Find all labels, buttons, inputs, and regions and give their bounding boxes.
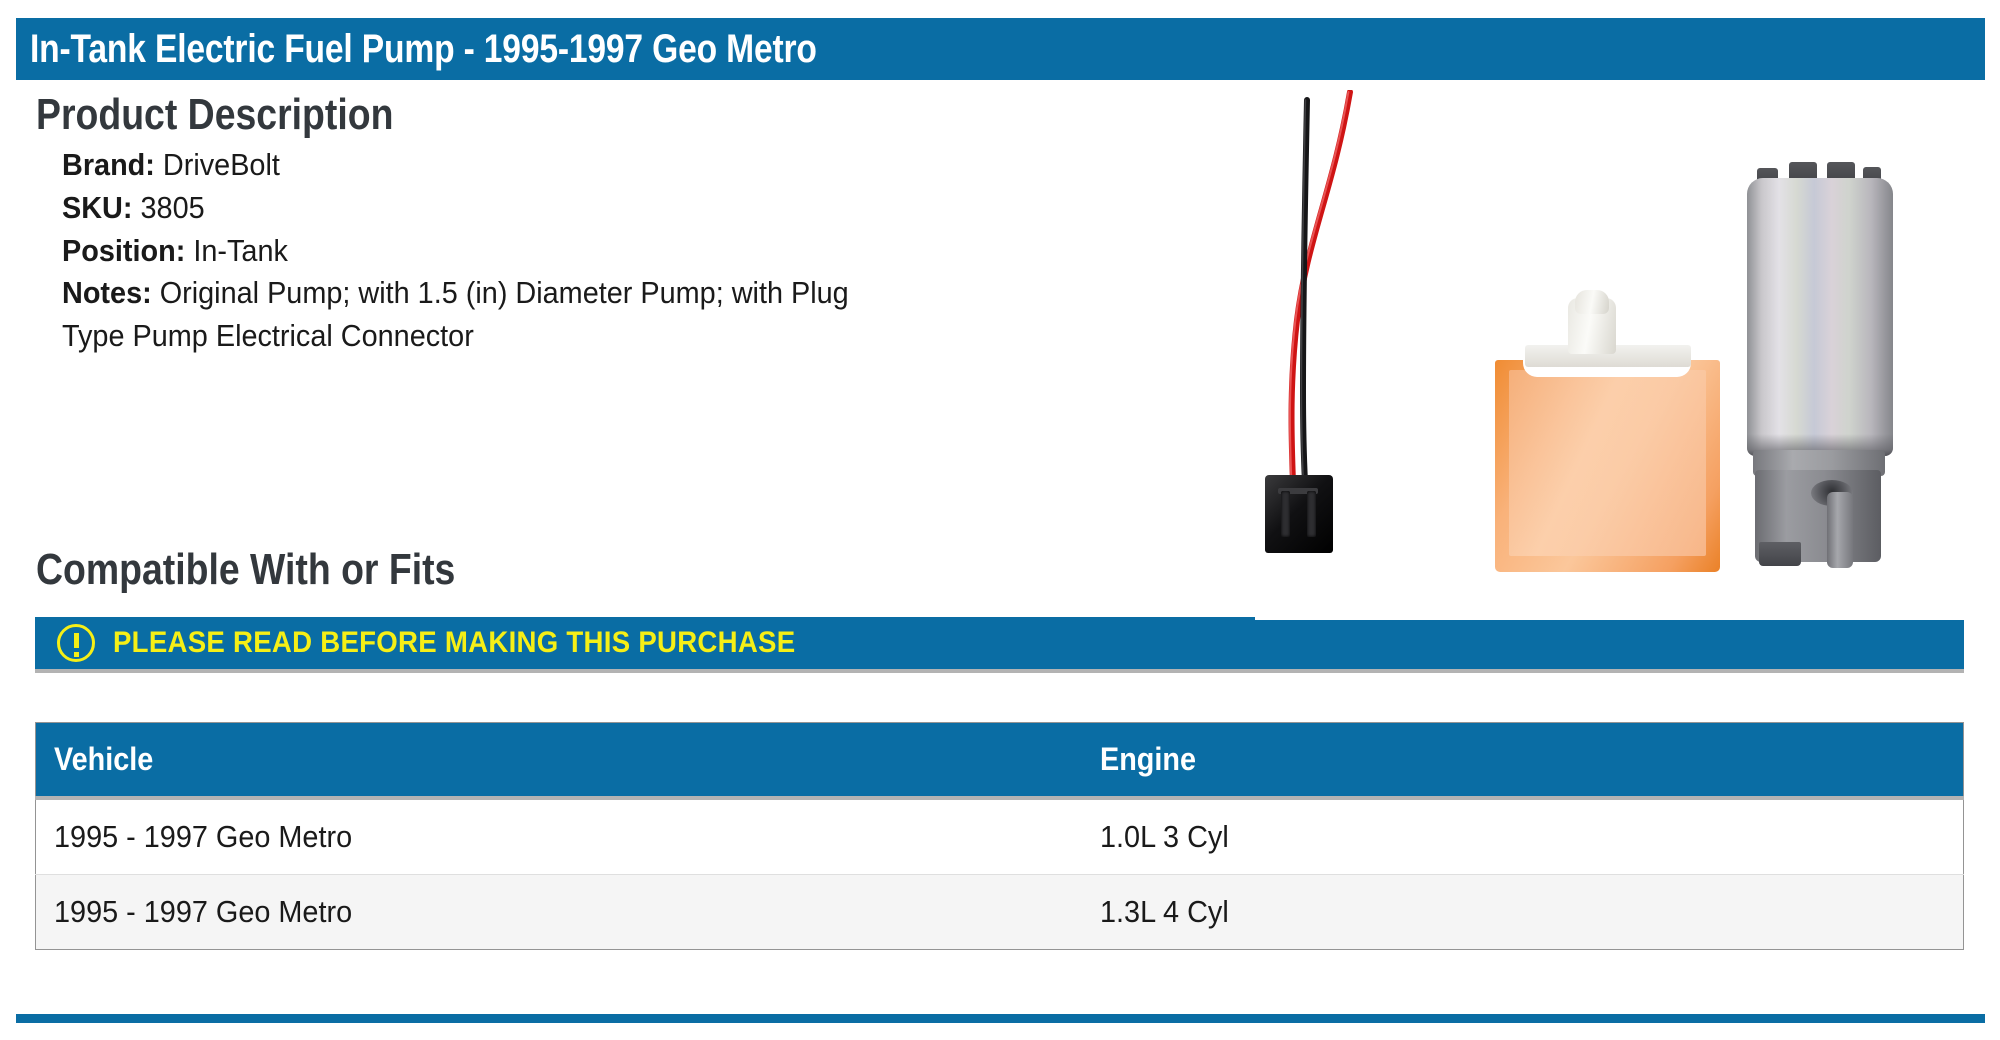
cell-engine-text: 1.3L 4 Cyl	[1100, 894, 1229, 930]
wire-red-icon	[1255, 90, 1455, 490]
spec-item-brand: Brand: DriveBolt	[62, 144, 918, 187]
spec-label-sku: SKU:	[62, 190, 132, 225]
column-header-vehicle-label: Vehicle	[54, 741, 153, 778]
fitment-table-header-row: Vehicle Engine	[36, 723, 1964, 799]
cell-engine: 1.0L 3 Cyl	[1082, 798, 1964, 875]
electrical-connector-body	[1265, 475, 1333, 553]
cell-vehicle: 1995 - 1997 Geo Metro	[36, 875, 1082, 950]
fuel-pump-cylinder	[1635, 90, 1935, 570]
compatibility-heading: Compatible With or Fits	[36, 545, 455, 595]
spec-value-brand: DriveBolt	[163, 147, 280, 182]
fitment-table-head: Vehicle Engine	[36, 723, 1964, 799]
product-description-heading: Product Description	[36, 92, 1039, 138]
purchase-warning-banner: PLEASE READ BEFORE MAKING THIS PURCHASE	[35, 617, 1964, 673]
spec-label-brand: Brand:	[62, 147, 155, 182]
table-row: 1995 - 1997 Geo Metro 1.3L 4 Cyl	[36, 875, 1964, 950]
column-header-engine: Engine	[1082, 723, 1964, 799]
filter-sock-plastic-cap	[1575, 290, 1609, 314]
cell-vehicle-text: 1995 - 1997 Geo Metro	[54, 819, 352, 855]
spec-item-sku: SKU: 3805	[62, 187, 918, 230]
page-title: In-Tank Electric Fuel Pump - 1995-1997 G…	[30, 27, 817, 72]
pump-outlet-tube	[1827, 492, 1853, 568]
spec-item-position: Position: In-Tank	[62, 230, 918, 273]
fitment-table: Vehicle Engine 1995 - 1997 Geo Metro 1.0…	[35, 722, 1964, 950]
spec-label-notes: Notes:	[62, 275, 152, 310]
connector-slot	[1281, 491, 1290, 537]
wiring-harness-connector	[1255, 90, 1455, 560]
spec-value-position: In-Tank	[193, 233, 288, 268]
product-photo	[1255, 90, 1985, 620]
cell-engine: 1.3L 4 Cyl	[1082, 875, 1964, 950]
spec-label-position: Position:	[62, 233, 185, 268]
cell-vehicle-text: 1995 - 1997 Geo Metro	[54, 894, 352, 930]
table-row: 1995 - 1997 Geo Metro 1.0L 3 Cyl	[36, 798, 1964, 875]
product-spec-list: Brand: DriveBolt SKU: 3805 Position: In-…	[36, 144, 1216, 358]
spec-value-sku: 3805	[140, 190, 204, 225]
pump-foot-bracket	[1759, 542, 1801, 566]
footer-bar	[16, 1014, 1985, 1023]
connector-slot	[1307, 491, 1316, 537]
fitment-table-body: 1995 - 1997 Geo Metro 1.0L 3 Cyl 1995 - …	[36, 798, 1964, 950]
exclamation-circle-icon	[57, 624, 95, 662]
cell-vehicle: 1995 - 1997 Geo Metro	[36, 798, 1082, 875]
purchase-warning-text: PLEASE READ BEFORE MAKING THIS PURCHASE	[113, 626, 795, 660]
column-header-engine-label: Engine	[1100, 741, 1196, 778]
cell-engine-text: 1.0L 3 Cyl	[1100, 819, 1229, 855]
product-description-section: Product Description Brand: DriveBolt SKU…	[36, 92, 1216, 358]
column-header-vehicle: Vehicle	[36, 723, 1082, 799]
spec-value-notes: Original Pump; with 1.5 (in) Diameter Pu…	[62, 275, 849, 353]
product-detail-page: In-Tank Electric Fuel Pump - 1995-1997 G…	[0, 0, 2000, 1040]
pump-metal-body	[1747, 178, 1893, 456]
page-title-bar: In-Tank Electric Fuel Pump - 1995-1997 G…	[16, 18, 1985, 80]
spec-item-notes: Notes: Original Pump; with 1.5 (in) Diam…	[62, 272, 918, 358]
